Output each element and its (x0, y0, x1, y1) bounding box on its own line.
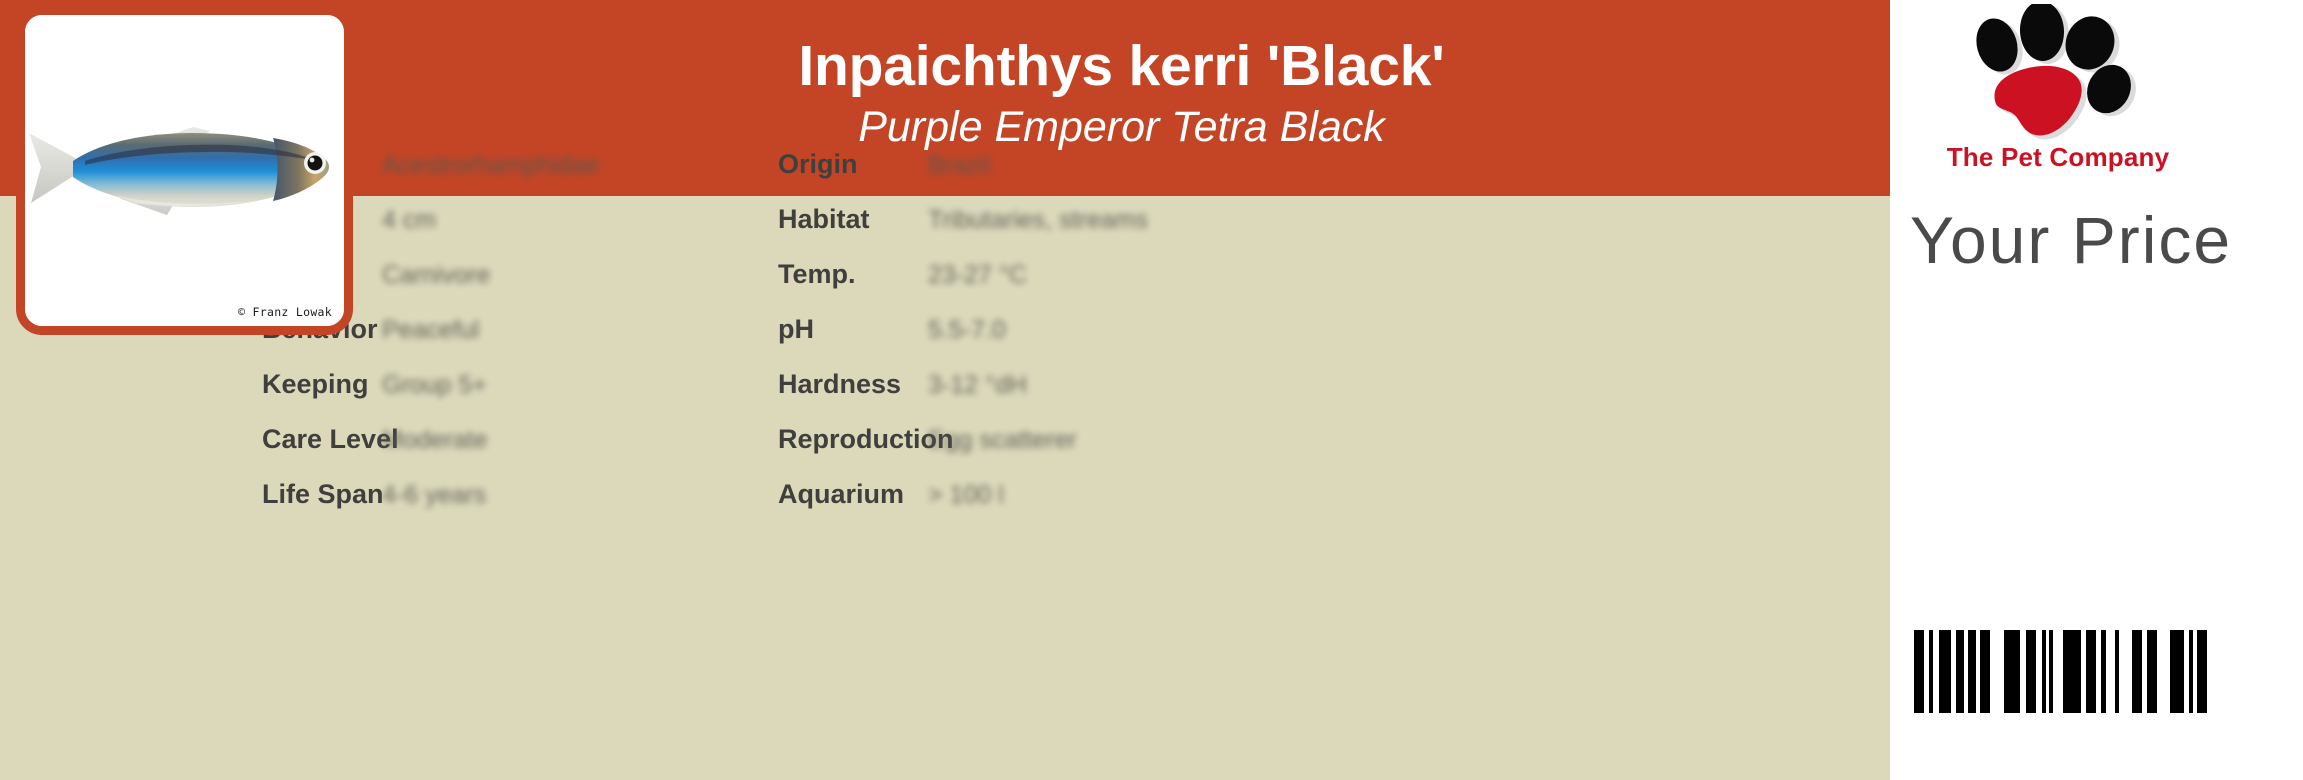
barcode-space (2106, 630, 2115, 713)
spec-row-care-level: Care Level Moderate (262, 424, 762, 454)
spec-value: Tributaries, streams (928, 205, 1148, 235)
spec-row-ph: pH 5.5-7.0 (778, 314, 1598, 344)
spec-row-reproduction: Reproduction Egg scatterer (778, 424, 1598, 454)
barcode-bar (2063, 630, 2081, 713)
brand-logo: The Pet Company (1906, 2, 2210, 190)
barcode-bar (2004, 630, 2020, 713)
barcode-bar (2147, 630, 2157, 713)
spec-label: Reproduction (778, 424, 928, 454)
spec-value: Acestrorhamphidae (382, 150, 599, 180)
spec-row-aquarium: Aquarium > 100 l (778, 479, 1598, 509)
barcode-bar (1914, 630, 1924, 713)
barcode-bar (2086, 630, 2096, 713)
barcode-space (2119, 630, 2132, 713)
barcode-bar (1956, 630, 1964, 713)
spec-row-habitat: Habitat Tributaries, streams (778, 204, 1598, 234)
photo-credit: © Franz Lowak (238, 305, 332, 319)
spec-label: Keeping (262, 369, 382, 399)
spec-value: > 100 l (928, 480, 1004, 510)
spec-row-temperature: Temp. 23-27 °C (778, 259, 1598, 289)
spec-label: Hardness (778, 369, 928, 399)
fish-photo-image (25, 15, 344, 326)
spec-value: 4 cm (382, 205, 436, 235)
spec-label: pH (778, 314, 928, 344)
brand-wordmark: The Pet Company (1906, 142, 2210, 173)
price-panel: The Pet Company Your Price (1890, 0, 2303, 780)
species-common-name: Purple Emperor Tetra Black (858, 103, 1385, 152)
spec-row-life-span: Life Span 4-6 years (262, 479, 762, 509)
spec-label: Temp. (778, 259, 928, 289)
spec-label: Aquarium (778, 479, 928, 509)
spec-row-origin: Origin Brazil (778, 149, 1598, 179)
spec-value: 4-6 years (382, 480, 486, 510)
fish-illustration-icon (25, 109, 343, 239)
spec-value: Egg scatterer (928, 425, 1077, 455)
barcode-bar (1980, 630, 1990, 713)
spec-value: Moderate (382, 425, 488, 455)
product-label: Inpaichthys kerri 'Black' Purple Emperor… (0, 0, 2303, 780)
barcode-bar (2132, 630, 2142, 713)
barcode-bar (1968, 630, 1976, 713)
paw-print-icon (1962, 4, 2147, 144)
spec-label: Life Span (262, 479, 382, 509)
spec-label: Habitat (778, 204, 928, 234)
spec-value: Group 5+ (382, 370, 487, 400)
spec-row-hardness: Hardness 3-12 °dH (778, 369, 1598, 399)
barcode-bar (2170, 630, 2184, 713)
spec-value: 23-27 °C (928, 260, 1027, 290)
spec-row-keeping: Keeping Group 5+ (262, 369, 762, 399)
species-info-panel: Inpaichthys kerri 'Black' Purple Emperor… (0, 0, 1890, 780)
spec-value: 5.5-7.0 (928, 315, 1006, 345)
your-price-heading: Your Price (1910, 196, 2303, 285)
barcode-bar (2026, 630, 2036, 713)
spec-value: 3-12 °dH (928, 370, 1027, 400)
spec-value: Carnivore (382, 260, 490, 290)
barcode-bar (1939, 630, 1951, 713)
barcode-space (1990, 630, 2004, 713)
barcode-space (2053, 630, 2063, 713)
spec-value: Peaceful (382, 315, 479, 345)
spec-label: Care Level (262, 424, 382, 454)
fish-photo-card: © Franz Lowak (16, 6, 353, 335)
barcode-space (2157, 630, 2170, 713)
species-scientific-name: Inpaichthys kerri 'Black' (798, 37, 1444, 97)
barcode-bar (2197, 630, 2207, 713)
spec-value: Brazil (928, 150, 991, 180)
spec-label: Origin (778, 149, 928, 179)
barcode-icon (1914, 630, 2207, 713)
